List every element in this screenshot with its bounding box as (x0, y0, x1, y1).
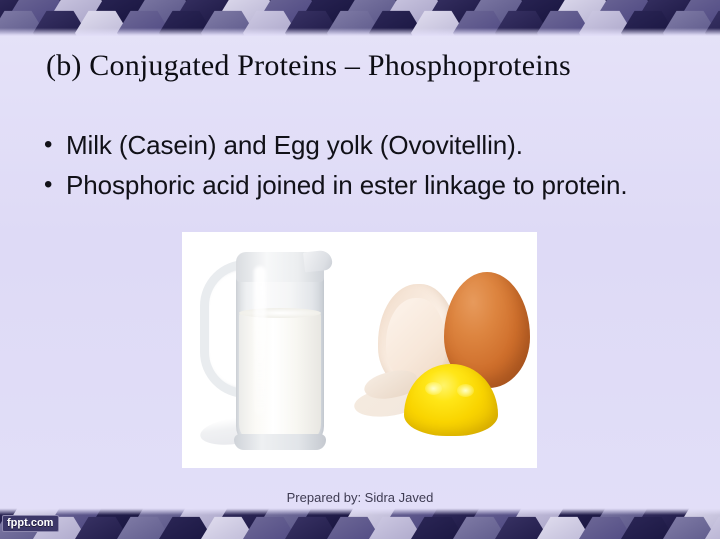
yolk-highlight-right (457, 384, 474, 397)
pitcher-highlight (254, 266, 266, 416)
presentation-slide: (b) Conjugated Proteins – Phosphoprotein… (0, 0, 720, 539)
bullet-list: • Milk (Casein) and Egg yolk (Ovovitelli… (44, 128, 674, 208)
milk-surface (239, 308, 321, 318)
top-border-fade (0, 28, 720, 36)
bottom-border-fade (0, 508, 720, 515)
pitcher-base (234, 434, 326, 450)
bullet-text: Phosphoric acid joined in ester linkage … (66, 168, 674, 202)
bullet-text: Milk (Casein) and Egg yolk (Ovovitellin)… (66, 128, 674, 162)
yolk-highlight-left (425, 382, 442, 395)
top-hexagon-border (0, 0, 720, 36)
milk-and-egg-photo (182, 232, 537, 468)
bullet-item: • Milk (Casein) and Egg yolk (Ovovitelli… (44, 128, 674, 162)
bullet-marker-icon: • (44, 128, 66, 162)
bullet-marker-icon: • (44, 168, 66, 202)
milk-pitcher (200, 242, 330, 454)
footer-credit: Prepared by: Sidra Javed (0, 490, 720, 506)
bottom-hexagon-border (0, 508, 720, 539)
fppt-watermark: fppt.com (2, 515, 59, 532)
pitcher-spout (303, 250, 333, 273)
milk-fill (239, 312, 321, 444)
bullet-item: • Phosphoric acid joined in ester linkag… (44, 168, 674, 202)
slide-title: (b) Conjugated Proteins – Phosphoprotein… (46, 48, 686, 84)
